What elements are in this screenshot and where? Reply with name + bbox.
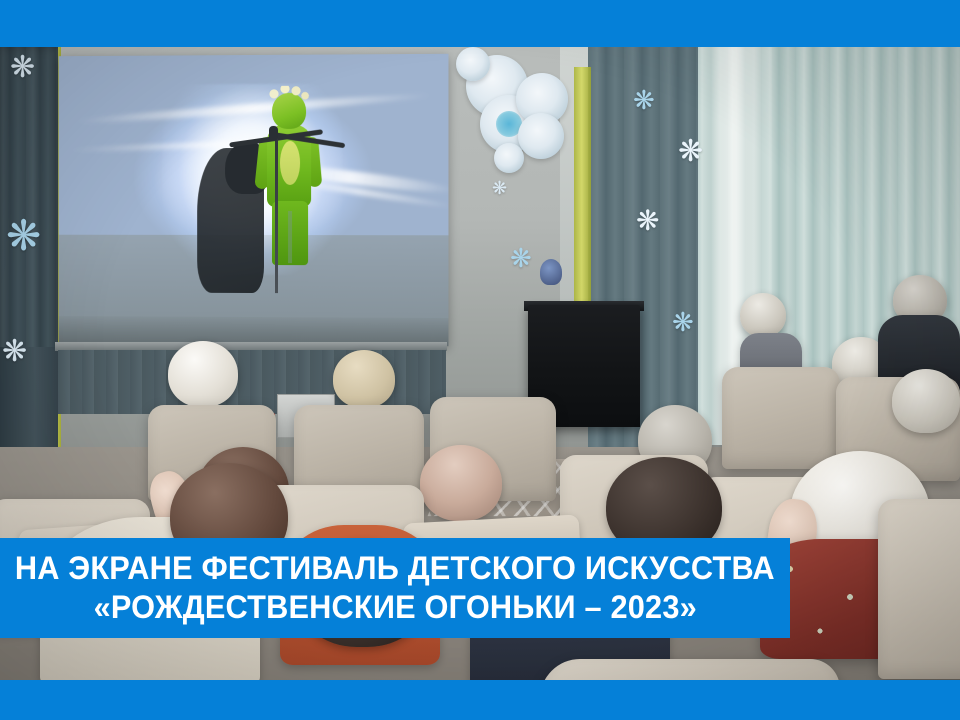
snowflake-cutout: ❋ <box>636 207 659 235</box>
microphone-stand <box>275 130 278 293</box>
audience-member-head <box>168 341 238 407</box>
performer-belly <box>280 141 300 185</box>
paper-fan-rosette <box>494 143 524 173</box>
paper-fan-rosette <box>518 113 564 159</box>
projected-image <box>59 54 449 346</box>
decor-ornament-blue <box>540 259 562 285</box>
bottom-blue-bar <box>0 680 960 720</box>
snowflake-cutout: ❋ <box>6 215 41 257</box>
performer-leg-gap <box>288 211 292 263</box>
snowflake-cutout: ❋ <box>633 87 655 113</box>
caption-banner: НА ЭКРАНЕ ФЕСТИВАЛЬ ДЕТСКОГО ИСКУССТВА «… <box>0 538 790 638</box>
snowflake-cutout: ❋ <box>510 245 532 271</box>
snowflake-cutout: ❋ <box>672 309 694 335</box>
top-blue-bar <box>0 0 960 47</box>
snowflake-cutout: ❋ <box>492 179 507 197</box>
caption-line-1: НА ЭКРАНЕ ФЕСТИВАЛЬ ДЕТСКОГО ИСКУССТВА <box>15 549 775 588</box>
paper-fan-rosette <box>456 47 490 81</box>
projection-screen <box>59 54 449 346</box>
snowflake-cutout: ❋ <box>10 53 35 83</box>
armchair <box>540 659 840 680</box>
audience-member-head <box>740 293 786 337</box>
snowflake-cutout: ❋ <box>678 137 703 167</box>
performer-crown <box>268 85 310 101</box>
armchair <box>878 499 960 679</box>
snowflake-cutout: ❋ <box>2 337 27 367</box>
audience-member-head <box>333 350 395 408</box>
screenshot-stage: ❋ ❋ ❋ ❋ ❋ ❋ ❋ ❋ ❋ <box>0 0 960 720</box>
audience-member-head <box>892 369 960 433</box>
armchair <box>722 367 840 469</box>
microphone-head <box>269 126 278 141</box>
caption-line-2: «РОЖДЕСТВЕНСКИЕ ОГОНЬКИ – 2023» <box>93 588 696 627</box>
audience-member-head <box>420 445 502 521</box>
